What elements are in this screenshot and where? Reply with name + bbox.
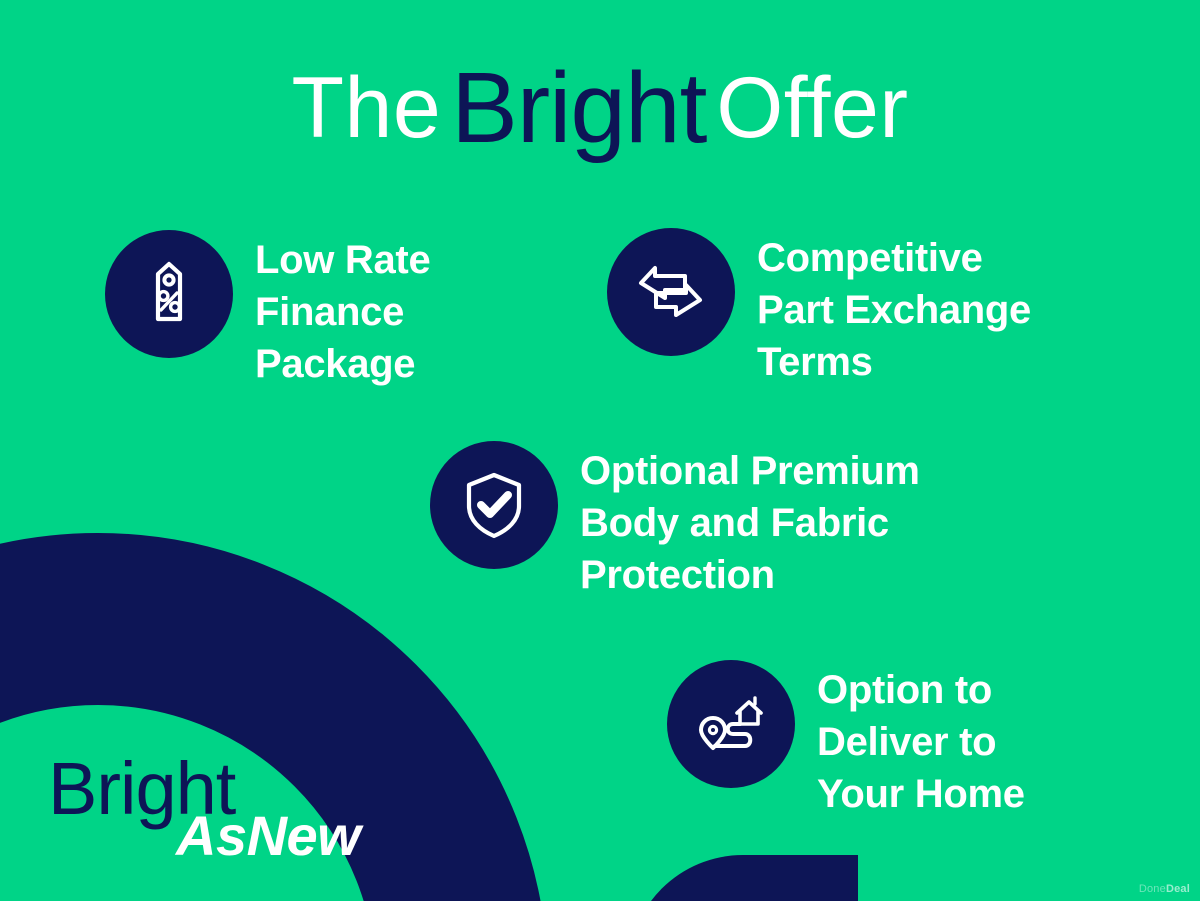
feature-item-part-exchange: Competitive Part Exchange Terms: [607, 228, 1031, 388]
feature-label: Option to Deliver to Your Home: [817, 660, 1025, 820]
brand-logo: Bright AsNew: [48, 752, 360, 864]
title-suffix: Offer: [716, 60, 908, 156]
title-prefix: The: [291, 60, 441, 156]
offer-graphic: TheBrightOffer Low Rate Finance Package …: [0, 0, 1200, 901]
watermark-suffix: Deal: [1166, 883, 1190, 895]
source-watermark: DoneDeal: [1139, 883, 1190, 895]
watermark-prefix: Done: [1139, 883, 1166, 895]
shield-check-icon: [430, 441, 558, 569]
feature-item-home-delivery: Option to Deliver to Your Home: [667, 660, 1025, 820]
logo-secondary-text: AsNew: [176, 808, 360, 864]
exchange-arrows-icon: [607, 228, 735, 356]
feature-item-low-rate-finance: Low Rate Finance Package: [105, 230, 430, 390]
title-brand: Bright: [441, 52, 716, 164]
feature-item-protection: Optional Premium Body and Fabric Protect…: [430, 441, 920, 601]
navy-corner-shape: [628, 855, 858, 901]
delivery-route-home-icon: [667, 660, 795, 788]
feature-label: Competitive Part Exchange Terms: [757, 228, 1031, 388]
page-title: TheBrightOffer: [0, 58, 1200, 158]
price-tag-percent-icon: [105, 230, 233, 358]
feature-label: Optional Premium Body and Fabric Protect…: [580, 441, 920, 601]
feature-label: Low Rate Finance Package: [255, 230, 430, 390]
